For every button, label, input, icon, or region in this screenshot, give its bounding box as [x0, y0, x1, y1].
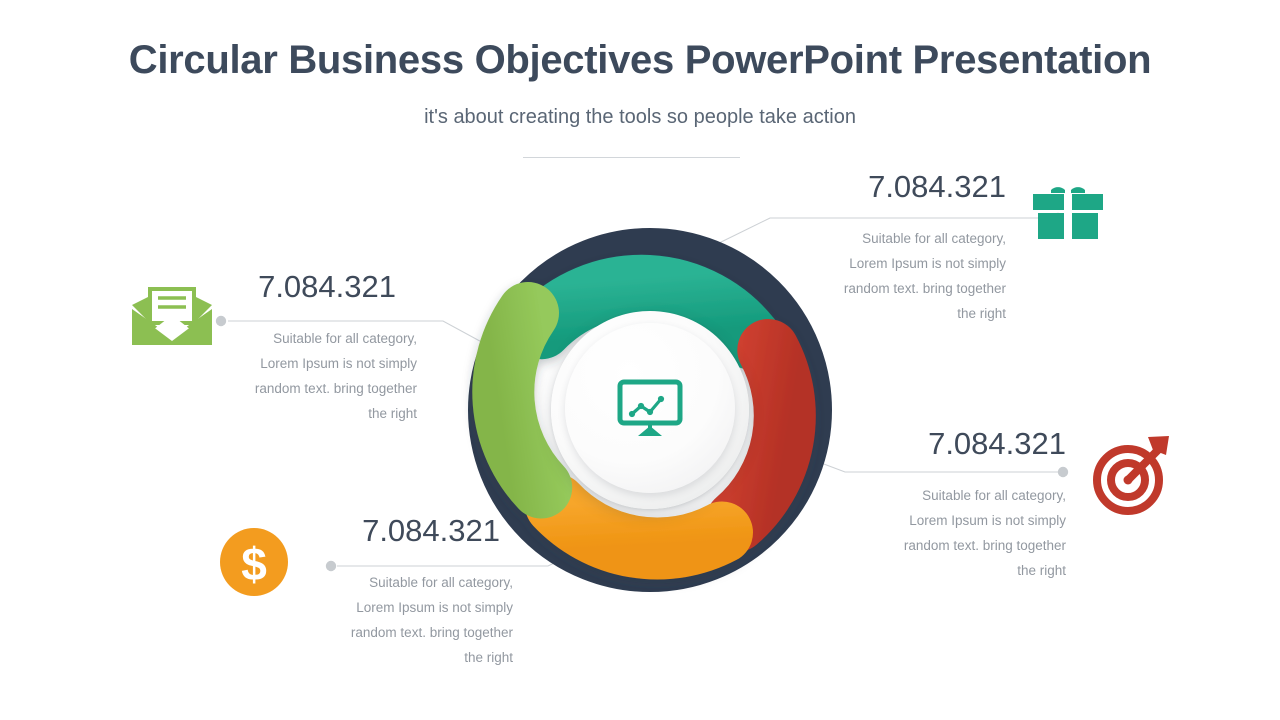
callout-bottom-right-body: Suitable for all category, Lorem Ipsum i… — [860, 483, 1066, 583]
monitor-chart-icon — [617, 379, 683, 437]
callout-top-right-line-1: Suitable for all category, — [800, 226, 1006, 251]
callout-bottom-left-line-3: random text. bring together — [215, 620, 513, 645]
callout-bottom-right-line-3: random text. bring together — [860, 533, 1066, 558]
callout-top-right-line-4: the right — [800, 301, 1006, 326]
slide-canvas: Circular Business Objectives PowerPoint … — [0, 0, 1280, 720]
svg-text:$: $ — [241, 538, 267, 590]
callout-left-line-4: the right — [113, 401, 417, 426]
callout-top-right-value: 7.084.321 — [800, 171, 1006, 202]
callout-bottom-left-line-4: the right — [215, 645, 513, 670]
callout-left-line-3: random text. bring together — [113, 376, 417, 401]
callout-bottom-left-line-2: Lorem Ipsum is not simply — [215, 595, 513, 620]
gift-icon[interactable] — [1029, 176, 1107, 240]
callout-bottom-right-line-1: Suitable for all category, — [860, 483, 1066, 508]
target-icon[interactable] — [1090, 432, 1174, 516]
callout-top-right: 7.084.321 Suitable for all category, Lor… — [800, 171, 1006, 326]
callout-bottom-right-line-2: Lorem Ipsum is not simply — [860, 508, 1066, 533]
center-hub-inner — [565, 323, 735, 493]
donut-segment-left[interactable] — [503, 313, 541, 488]
callout-bottom-right-value: 7.084.321 — [860, 428, 1066, 459]
callout-top-right-line-3: random text. bring together — [800, 276, 1006, 301]
callout-top-right-body: Suitable for all category, Lorem Ipsum i… — [800, 226, 1006, 326]
page-subtitle: it's about creating the tools so people … — [0, 106, 1280, 129]
callout-left-line-2: Lorem Ipsum is not simply — [113, 351, 417, 376]
callout-top-right-line-2: Lorem Ipsum is not simply — [800, 251, 1006, 276]
donut-segment-bottom[interactable] — [556, 505, 722, 549]
center-hub — [551, 311, 749, 509]
callout-bottom-right: 7.084.321 Suitable for all category, Lor… — [860, 428, 1066, 583]
header-divider — [523, 157, 740, 158]
page-title: Circular Business Objectives PowerPoint … — [0, 38, 1280, 83]
envelope-icon[interactable] — [128, 281, 216, 349]
callout-bottom-right-line-4: the right — [860, 558, 1066, 583]
dollar-coin-icon[interactable]: $ — [219, 527, 289, 597]
